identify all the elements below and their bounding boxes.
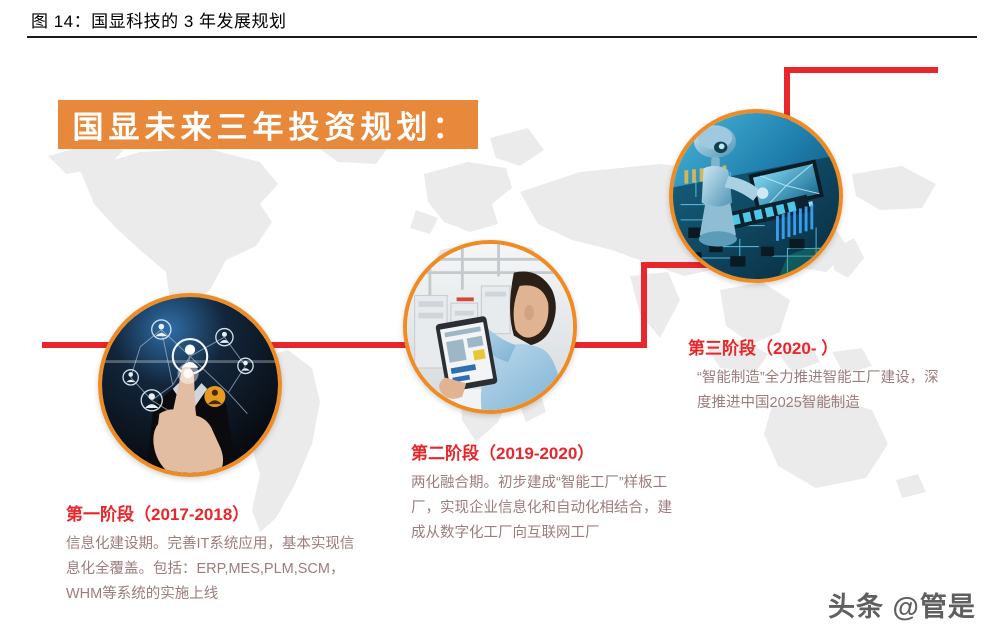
hand-network-icon xyxy=(102,297,278,473)
stage-2-body: 两化融合期。初步建成“智能工厂”样板工厂，实现企业信息化和自动化相结合，建成从数… xyxy=(411,471,676,546)
figure-caption-bar: 图 14：国显科技的 3 年发展规划 xyxy=(0,0,993,40)
robot-circuit-icon xyxy=(673,113,839,279)
stage-2-photo xyxy=(403,240,577,414)
stage-2-block: 第二阶段（2019-2020） 两化融合期。初步建成“智能工厂”样板工厂，实现企… xyxy=(411,439,676,546)
stage-1-body: 信息化建设期。完善IT系统应用，基本实现信息化全覆盖。包括：ERP,MES,PL… xyxy=(66,532,366,607)
stage-3-body: “智能制造”全力推进智能工厂建设，深度推进中国2025智能制造 xyxy=(683,366,951,416)
banner-title: 国显未来三年投资规划： xyxy=(58,100,478,149)
caption-divider xyxy=(27,36,977,38)
banner-title-text: 国显未来三年投资规划： xyxy=(68,102,469,147)
stage-3-heading: 第三阶段（2020- ） xyxy=(683,334,951,359)
watermark: 头条 @管是 xyxy=(828,585,976,624)
engineer-tablet-icon xyxy=(407,244,573,410)
page-title: 图 14：国显科技的 3 年发展规划 xyxy=(31,7,287,32)
stage-3-block: 第三阶段（2020- ） “智能制造”全力推进智能工厂建设，深度推进中国2025… xyxy=(683,334,951,416)
stage-2-heading: 第二阶段（2019-2020） xyxy=(411,439,676,464)
stage-1-block: 第一阶段（2017-2018） 信息化建设期。完善IT系统应用，基本实现信息化全… xyxy=(66,500,366,607)
stage-3-photo xyxy=(669,109,843,283)
roadmap-figure: 国显未来三年投资规划： xyxy=(0,40,993,634)
stage-1-heading: 第一阶段（2017-2018） xyxy=(66,500,366,525)
stage-1-photo xyxy=(98,293,282,477)
